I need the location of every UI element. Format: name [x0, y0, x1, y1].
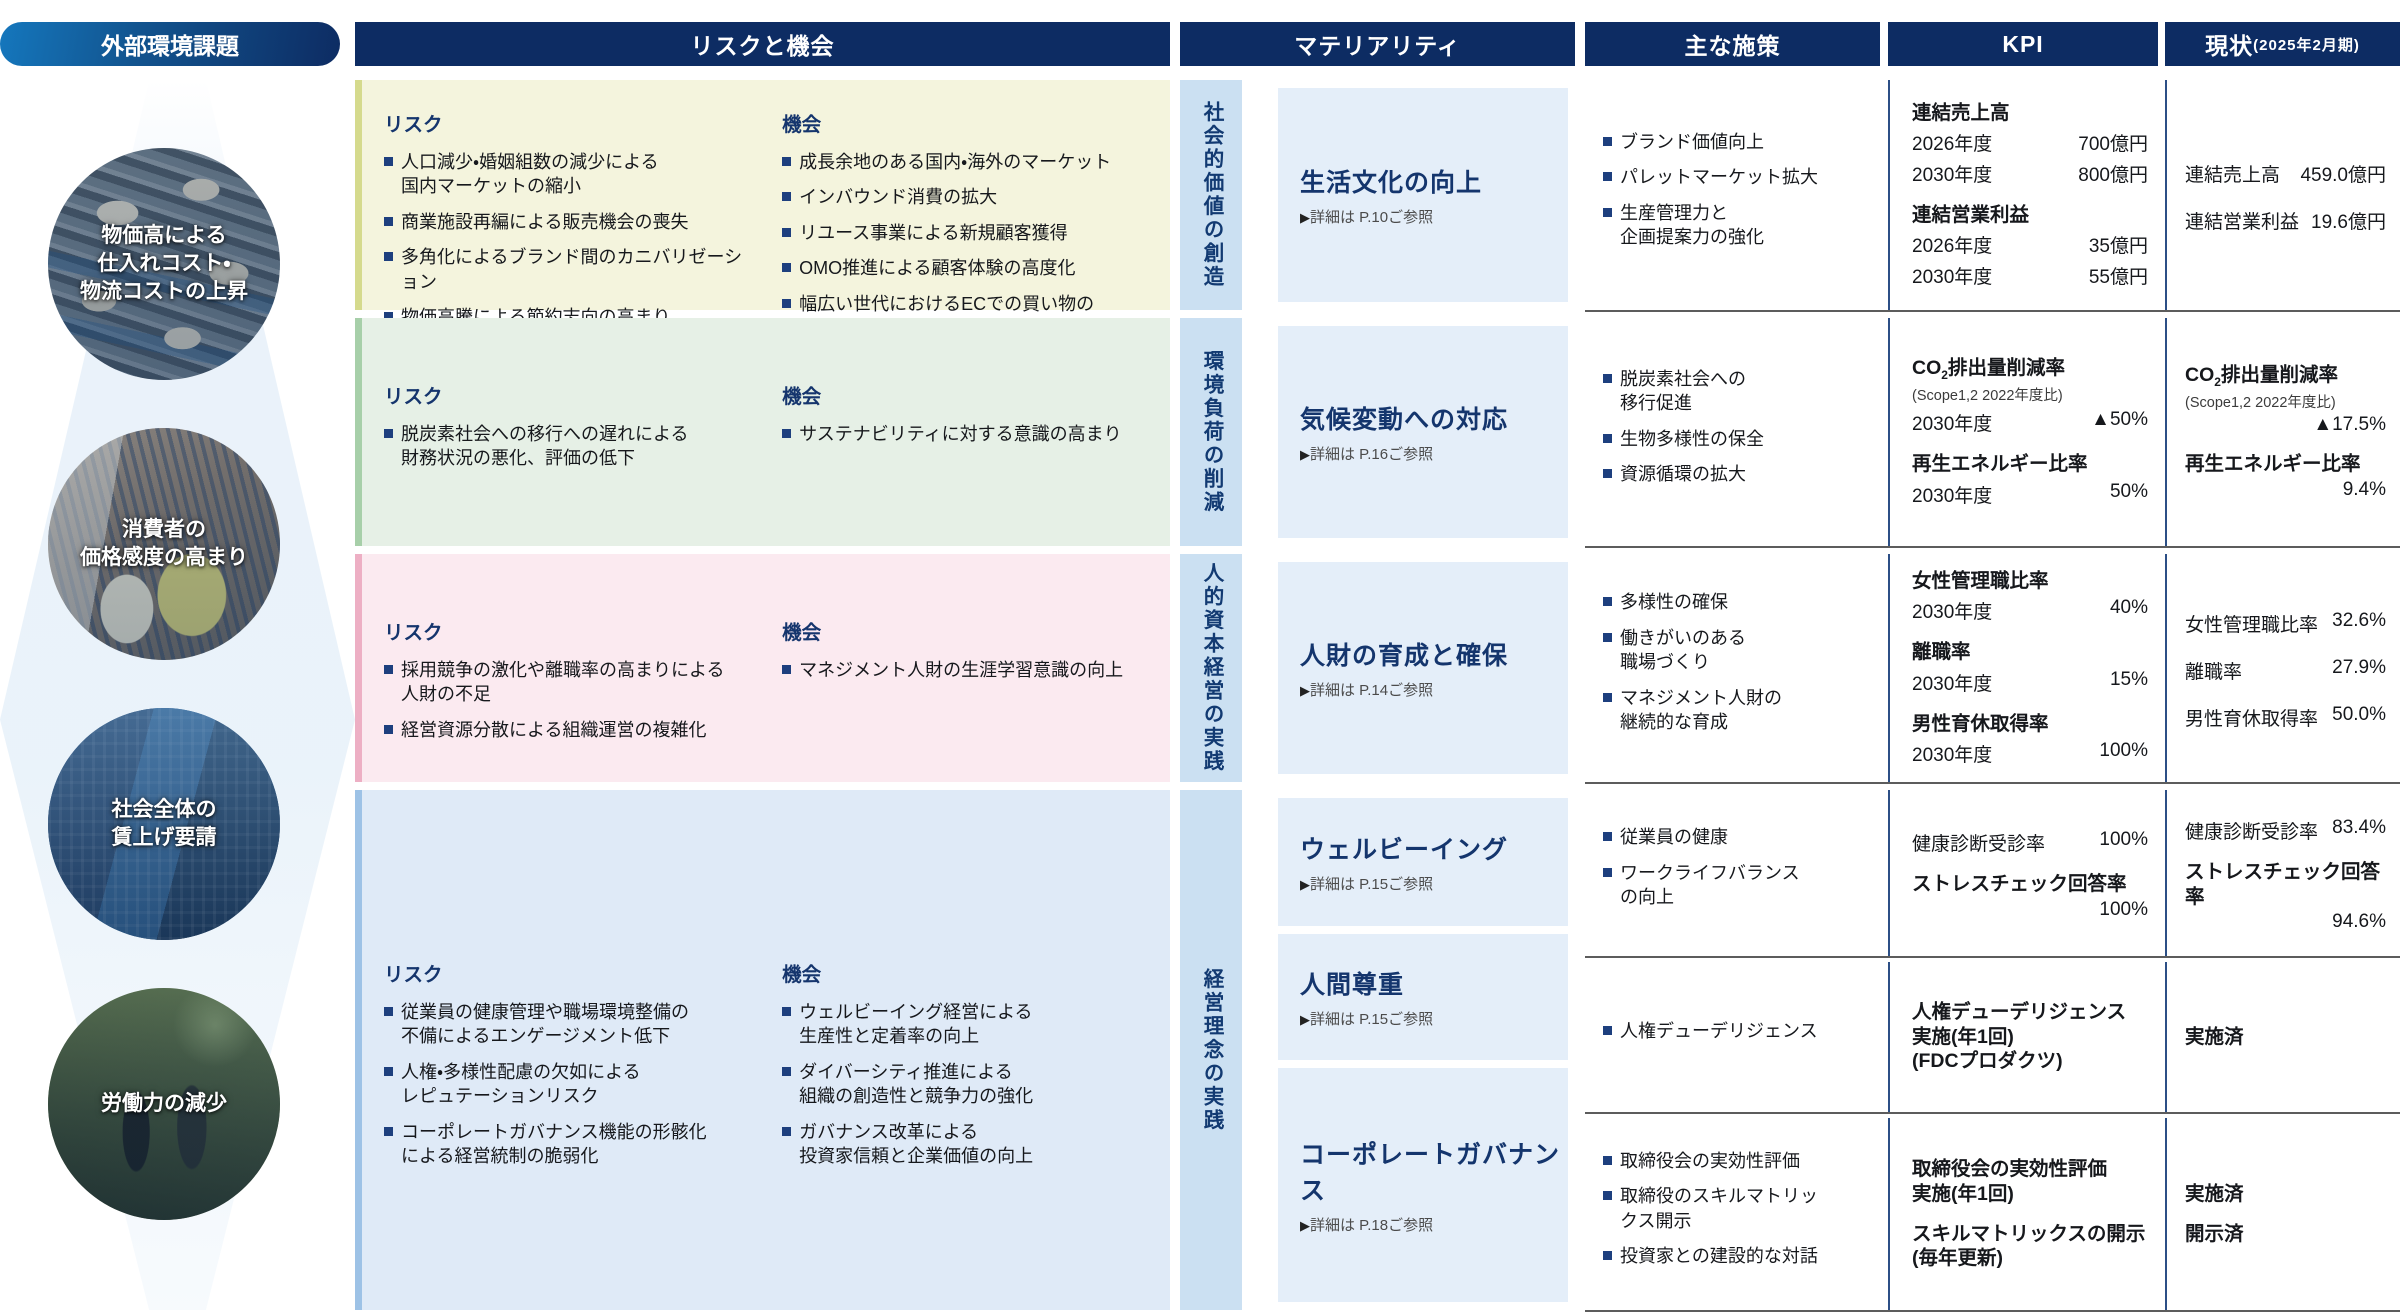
list-item: 多角化によるブランド間のカニバリゼーション: [384, 245, 760, 294]
kpi-value: 94.6%: [2185, 911, 2386, 933]
kpi-title: 連結売上高: [1912, 101, 2148, 125]
kpi-value: 9.4%: [2185, 479, 2386, 501]
play-triangle-icon: ▶: [1300, 1218, 1310, 1233]
kpi-group: 再生エネルギー比率9.4%: [2185, 452, 2386, 500]
external-issue-label-1: 消費者の価格感度の高まり: [76, 516, 252, 571]
measures-cell-5: 取締役会の実効性評価取締役のスキルマトリックス開示投資家との建設的な対話: [1585, 1118, 1880, 1310]
pillar-social-value: 社会的価値の創造: [1180, 80, 1242, 310]
kpi-row: 2030年度100%: [1912, 740, 2148, 767]
materiality-ref-label-0: 詳細は P.10ご参照: [1310, 209, 1433, 226]
risk-title-3: リスク: [384, 958, 760, 987]
list-item: 働きがいのある職場づくり: [1603, 626, 1864, 675]
risk-title-1: リスク: [384, 380, 760, 409]
list-item: 資源循環の拡大: [1603, 462, 1864, 486]
external-issue-label-2: 社会全体の賃上げ要請: [108, 796, 221, 851]
list-item: ガバナンス改革による投資家信頼と企業価値の向上: [782, 1120, 1156, 1169]
measures-cell-0: ブランド価値向上パレットマーケット拡大生産管理力と企画提案力の強化: [1585, 80, 1880, 310]
header-risk-opportunity-label: リスクと機会: [691, 27, 835, 61]
materiality-card-3[interactable]: ウェルビーイング ▶詳細は P.15ご参照: [1278, 798, 1568, 926]
kpi-row-label: 2026年度: [1912, 231, 1992, 258]
list-item: 人権デューデリジェンス: [1603, 1019, 1864, 1043]
list-item: 脱炭素社会への移行への遅れによる財務状況の悪化、評価の低下: [384, 422, 760, 471]
header-measures-label: 主な施策: [1685, 27, 1781, 61]
opportunity-block-1: 機会 サステナビリティに対する意識の高まり: [774, 380, 1170, 546]
opportunity-block-3: 機会 ウェルビーイング経営による生産性と定着率の向上ダイバーシティ推進による組織…: [774, 958, 1170, 1310]
materiality-ref-0[interactable]: ▶詳細は P.10ご参照: [1300, 206, 1568, 227]
kpi-row-value: ▲50%: [2091, 409, 2148, 436]
opportunity-list-2: マネジメント人財の生涯学習意識の向上: [782, 658, 1156, 682]
materiality-ref-label-1: 詳細は P.16ご参照: [1310, 446, 1433, 463]
kpi-group: CO2排出量削減率(Scope1,2 2022年度比)▲17.5%: [2185, 363, 2386, 436]
kpi-group: 健康診断受診率83.4%: [2185, 813, 2386, 844]
kpi-title: 連結営業利益: [2185, 207, 2299, 234]
list-item: ブランド価値向上: [1603, 130, 1864, 154]
list-item: サステナビリティに対する意識の高まり: [782, 422, 1156, 446]
opportunity-title-1: 機会: [782, 380, 1156, 409]
pillar-environment: 環境負荷の削減: [1180, 318, 1242, 546]
materiality-ref-label-4: 詳細は P.15ご参照: [1310, 1011, 1433, 1028]
list-item: ダイバーシティ推進による組織の創造性と競争力の強化: [782, 1060, 1156, 1109]
list-item: コーポレートガバナンス機能の形骸化による経営統制の脆弱化: [384, 1120, 760, 1169]
kpi-row-label: 2030年度: [1912, 160, 1992, 187]
kpi-value: 83.4%: [2332, 817, 2386, 844]
kpi-group: 取締役会の実効性評価実施(年1回): [1912, 1157, 2148, 1206]
materiality-title-0: 生活文化の向上: [1300, 163, 1568, 199]
header-current: 現状(2025年2月期): [2165, 22, 2400, 66]
kpi-value: 100%: [1912, 899, 2148, 921]
kpi-title: 実施済: [2185, 1025, 2386, 1049]
kpi-value: 50.0%: [2332, 704, 2386, 731]
kpi-title: 男性育休取得率: [1912, 712, 2148, 736]
kpi-group: 女性管理職比率2030年度40%: [1912, 569, 2148, 624]
list-item: インバウンド消費の拡大: [782, 185, 1156, 209]
kpi-group: 連結営業利益19.6億円: [2185, 203, 2386, 234]
external-issue-circle-wage-increase: 社会全体の賃上げ要請: [48, 708, 280, 940]
materiality-card-1[interactable]: 気候変動への対応 ▶詳細は P.16ご参照: [1278, 326, 1568, 538]
kpi-title: スキルマトリックスの開示(毎年更新): [1912, 1222, 2148, 1271]
kpi-title: ストレスチェック回答率: [2185, 860, 2386, 909]
kpi-title: 女性管理職比率: [1912, 569, 2148, 593]
opportunity-list-0: 成長余地のある国内・海外のマーケットインバウンド消費の拡大リユース事業による新規…: [782, 150, 1156, 341]
pillar-label-1: 環境負荷の削減: [1196, 350, 1226, 515]
kpi-row: 2030年度50%: [1912, 481, 2148, 508]
kpi-row-value: 40%: [2110, 597, 2148, 624]
risk-title-0: リスク: [384, 108, 760, 137]
kpi-group: 女性管理職比率32.6%: [2185, 606, 2386, 637]
kpi-title: CO2排出量削減率: [1912, 356, 2148, 383]
kpi-group: スキルマトリックスの開示(毎年更新): [1912, 1222, 2148, 1271]
header-current-sublabel: (2025年2月期): [2253, 34, 2360, 55]
risk-block-2: リスク 採用競争の激化や離職率の高まりによる人財の不足経営資源分散による組織運営…: [362, 616, 774, 782]
kpi-row-value: 35億円: [2089, 231, 2148, 258]
materiality-ref-1[interactable]: ▶詳細は P.16ご参照: [1300, 443, 1568, 464]
opportunity-list-3: ウェルビーイング経営による生産性と定着率の向上ダイバーシティ推進による組織の創造…: [782, 1000, 1156, 1169]
kpi-group: 連結売上高2026年度700億円2030年度800億円: [1912, 101, 2148, 187]
kpi-value: 459.0億円: [2300, 160, 2386, 187]
kpi-title: 取締役会の実効性評価実施(年1回): [1912, 1157, 2148, 1206]
play-triangle-icon: ▶: [1300, 210, 1310, 225]
kpi-row: 2026年度35億円: [1912, 231, 2148, 258]
kpi-group: CO2排出量削減率(Scope1,2 2022年度比)2030年度▲50%: [1912, 356, 2148, 436]
materiality-title-3: ウェルビーイング: [1300, 830, 1568, 866]
materiality-ref-label-2: 詳細は P.14ご参照: [1310, 682, 1433, 699]
kpi-group: 開示済: [2185, 1222, 2386, 1246]
kpi-row-label: 2030年度: [1912, 409, 1992, 436]
kpi-group: ストレスチェック回答率94.6%: [2185, 860, 2386, 933]
kpi-title: 男性育休取得率: [2185, 704, 2318, 731]
list-item: 取締役会の実効性評価: [1603, 1149, 1864, 1173]
measures-cell-4: 人権デューデリジェンス: [1585, 962, 1880, 1112]
external-issue-circle-labor-shortage: 労働力の減少: [48, 988, 280, 1220]
kpi-row-label: 2030年度: [1912, 597, 1992, 624]
current-cell-4: 実施済: [2165, 962, 2400, 1112]
list-item: 従業員の健康管理や職場環境整備の不備によるエンゲージメント低下: [384, 1000, 760, 1049]
external-issue-circle-price-sensitivity: 消費者の価格感度の高まり: [48, 428, 280, 660]
kpi-row-label: 2030年度: [1912, 669, 1992, 696]
risk-list-2: 採用競争の激化や離職率の高まりによる人財の不足経営資源分散による組織運営の複雑化: [384, 658, 760, 742]
list-item: 投資家との建設的な対話: [1603, 1244, 1864, 1268]
kpi-group: 男性育休取得率50.0%: [2185, 700, 2386, 731]
list-item: 生産管理力と企画提案力の強化: [1603, 201, 1864, 250]
list-item: 採用競争の激化や離職率の高まりによる人財の不足: [384, 658, 760, 707]
measures-list-1: 脱炭素社会への移行促進生物多様性の保全資源循環の拡大: [1603, 367, 1864, 498]
kpi-title: 人権デューデリジェンス実施(年1回)(FDCプロダクツ): [1912, 1000, 2148, 1073]
risk-block-0: リスク 人口減少・婚姻組数の減少による国内マーケットの縮小商業施設再編による販売…: [362, 108, 774, 310]
opportunity-title-3: 機会: [782, 958, 1156, 987]
measures-list-5: 取締役会の実効性評価取締役のスキルマトリックス開示投資家との建設的な対話: [1603, 1149, 1864, 1280]
pillar-management-philosophy: 経営理念の実践: [1180, 790, 1242, 1310]
kpi-title: CO2排出量削減率: [2185, 363, 2386, 390]
materiality-ref-label-5: 詳細は P.18ご参照: [1310, 1217, 1433, 1234]
kpi-title: 女性管理職比率: [2185, 610, 2318, 637]
risk-title-2: リスク: [384, 616, 760, 645]
kpi-row: 2030年度▲50%: [1912, 409, 2148, 436]
kpi-row-label: 2030年度: [1912, 481, 1992, 508]
header-kpi-label: KPI: [2002, 31, 2043, 58]
kpi-title: ストレスチェック回答率: [1912, 872, 2148, 896]
kpi-group: 連結売上高459.0億円: [2185, 156, 2386, 187]
list-item: 経営資源分散による組織運営の複雑化: [384, 718, 760, 742]
materiality-card-4[interactable]: 人間尊重 ▶詳細は P.15ご参照: [1278, 934, 1568, 1060]
kpi-row-label: 2030年度: [1912, 740, 1992, 767]
risk-list-3: 従業員の健康管理や職場環境整備の不備によるエンゲージメント低下人権・多様性配慮の…: [384, 1000, 760, 1169]
pillar-label-2: 人的資本経営の実践: [1196, 562, 1226, 774]
current-cell-3: 健康診断受診率83.4%ストレスチェック回答率94.6%: [2165, 790, 2400, 956]
risk-opportunity-panel-3: リスク 従業員の健康管理や職場環境整備の不備によるエンゲージメント低下人権・多様…: [355, 790, 1170, 1310]
row-divider-4: [1585, 1112, 2400, 1114]
risk-opportunity-panel-0: リスク 人口減少・婚姻組数の減少による国内マーケットの縮小商業施設再編による販売…: [355, 80, 1170, 310]
list-item: マネジメント人財の継続的な育成: [1603, 686, 1864, 735]
header-materiality: マテリアリティ: [1180, 22, 1575, 66]
list-item: リユース事業による新規顧客獲得: [782, 221, 1156, 245]
kpi-value: 32.6%: [2332, 610, 2386, 637]
play-triangle-icon: ▶: [1300, 877, 1310, 892]
kpi-cell-1: CO2排出量削減率(Scope1,2 2022年度比)2030年度▲50%再生エ…: [1888, 318, 2158, 546]
materiality-card-0[interactable]: 生活文化の向上 ▶詳細は P.10ご参照: [1278, 88, 1568, 302]
kpi-title: 開示済: [2185, 1222, 2386, 1246]
measures-list-0: ブランド価値向上パレットマーケット拡大生産管理力と企画提案力の強化: [1603, 130, 1864, 261]
kpi-row: 2030年度15%: [1912, 669, 2148, 696]
current-cell-1: CO2排出量削減率(Scope1,2 2022年度比)▲17.5%再生エネルギー…: [2165, 318, 2400, 546]
current-cell-0: 連結売上高459.0億円連結営業利益19.6億円: [2165, 80, 2400, 310]
kpi-row-value: 100%: [2099, 740, 2148, 767]
kpi-group: 実施済: [2185, 1025, 2386, 1049]
kpi-note: (Scope1,2 2022年度比): [2185, 391, 2386, 412]
header-risk-opportunity: リスクと機会: [355, 22, 1170, 66]
materiality-matrix-page: 外部環境課題 リスクと機会 マテリアリティ 主な施策 KPI 現状(2025年2…: [0, 0, 2400, 1314]
measures-list-2: 多様性の確保働きがいのある職場づくりマネジメント人財の継続的な育成: [1603, 590, 1864, 745]
list-item: 従業員の健康: [1603, 825, 1864, 849]
opportunity-list-1: サステナビリティに対する意識の高まり: [782, 422, 1156, 446]
play-triangle-icon: ▶: [1300, 683, 1310, 698]
kpi-row-value: 700億円: [2078, 129, 2148, 156]
kpi-title: 離職率: [1912, 640, 2148, 664]
current-cell-5: 実施済開示済: [2165, 1118, 2400, 1310]
kpi-title: 離職率: [2185, 657, 2242, 684]
kpi-title: 再生エネルギー比率: [2185, 452, 2386, 476]
risk-list-0: 人口減少・婚姻組数の減少による国内マーケットの縮小商業施設再編による販売機会の喪…: [384, 150, 760, 330]
play-triangle-icon: ▶: [1300, 447, 1310, 462]
header-external-issues: 外部環境課題: [0, 22, 340, 66]
header-current-label: 現状: [2205, 27, 2253, 61]
kpi-group: 離職率2030年度15%: [1912, 640, 2148, 695]
kpi-title: 再生エネルギー比率: [1912, 452, 2148, 476]
risk-opportunity-panel-1: リスク 脱炭素社会への移行への遅れによる財務状況の悪化、評価の低下 機会 サステ…: [355, 318, 1170, 546]
measures-list-4: 人権デューデリジェンス: [1603, 1019, 1864, 1054]
row-divider-0: [1585, 310, 2400, 312]
kpi-cell-0: 連結売上高2026年度700億円2030年度800億円連結営業利益2026年度3…: [1888, 80, 2158, 310]
list-item: 成長余地のある国内・海外のマーケット: [782, 150, 1156, 174]
row-divider-1: [1585, 546, 2400, 548]
list-item: 生物多様性の保全: [1603, 427, 1864, 451]
materiality-ref-5[interactable]: ▶詳細は P.18ご参照: [1300, 1214, 1568, 1235]
risk-opportunity-panel-2: リスク 採用競争の激化や離職率の高まりによる人財の不足経営資源分散による組織運営…: [355, 554, 1170, 782]
pillar-label-3: 経営理念の実践: [1196, 968, 1226, 1133]
kpi-title: 連結売上高: [2185, 160, 2280, 187]
measures-cell-2: 多様性の確保働きがいのある職場づくりマネジメント人財の継続的な育成: [1585, 554, 1880, 782]
kpi-group: 健康診断受診率100%: [1912, 825, 2148, 856]
materiality-title-4: 人間尊重: [1300, 965, 1568, 1001]
opportunity-title-2: 機会: [782, 616, 1156, 645]
kpi-cell-4: 人権デューデリジェンス実施(年1回)(FDCプロダクツ): [1888, 962, 2158, 1112]
header-kpi: KPI: [1888, 22, 2158, 66]
external-issue-label-3: 労働力の減少: [97, 1090, 231, 1118]
materiality-ref-3[interactable]: ▶詳細は P.15ご参照: [1300, 873, 1568, 894]
header-materiality-label: マテリアリティ: [1294, 27, 1461, 61]
list-item: 商業施設再編による販売機会の喪失: [384, 210, 760, 234]
risk-list-1: 脱炭素社会への移行への遅れによる財務状況の悪化、評価の低下: [384, 422, 760, 471]
materiality-card-2[interactable]: 人財の育成と確保 ▶詳細は P.14ご参照: [1278, 562, 1568, 774]
kpi-row-value: 55億円: [2089, 262, 2148, 289]
kpi-row-value: 50%: [2110, 481, 2148, 508]
kpi-group: 実施済: [2185, 1182, 2386, 1206]
materiality-title-1: 気候変動への対応: [1300, 400, 1568, 436]
list-item: 取締役のスキルマトリックス開示: [1603, 1184, 1864, 1233]
external-issue-circle-logistics-cost: 物価高による仕入れコスト・物流コストの上昇: [48, 148, 280, 380]
list-item: OMO推進による顧客体験の高度化: [782, 256, 1156, 280]
pillar-human-capital: 人的資本経営の実践: [1180, 554, 1242, 782]
list-item: 人口減少・婚姻組数の減少による国内マーケットの縮小: [384, 150, 760, 199]
kpi-row: 2026年度700億円: [1912, 129, 2148, 156]
external-issue-label-0: 物価高による仕入れコスト・物流コストの上昇: [76, 222, 252, 305]
kpi-row: 2030年度55億円: [1912, 262, 2148, 289]
opportunity-title-0: 機会: [782, 108, 1156, 137]
kpi-title: 実施済: [2185, 1182, 2386, 1206]
list-item: マネジメント人財の生涯学習意識の向上: [782, 658, 1156, 682]
materiality-ref-2[interactable]: ▶詳細は P.14ご参照: [1300, 679, 1568, 700]
opportunity-block-0: 機会 成長余地のある国内・海外のマーケットインバウンド消費の拡大リユース事業によ…: [774, 108, 1170, 310]
kpi-title: 健康診断受診率: [2185, 817, 2318, 844]
kpi-group: 男性育休取得率2030年度100%: [1912, 712, 2148, 767]
measures-list-3: 従業員の健康ワークライフバランスの向上: [1603, 825, 1864, 920]
kpi-row-value: 15%: [2110, 669, 2148, 696]
current-cell-2: 女性管理職比率32.6%離職率27.9%男性育休取得率50.0%: [2165, 554, 2400, 782]
materiality-ref-4[interactable]: ▶詳細は P.15ご参照: [1300, 1008, 1568, 1029]
materiality-title-2: 人財の育成と確保: [1300, 636, 1568, 672]
kpi-group: ストレスチェック回答率100%: [1912, 872, 2148, 920]
kpi-row-label: 2030年度: [1912, 262, 1992, 289]
row-divider-3: [1585, 956, 2400, 958]
list-item: 人権・多様性配慮の欠如によるレピュテーションリスク: [384, 1060, 760, 1109]
row-divider-2: [1585, 782, 2400, 784]
kpi-value: 27.9%: [2332, 657, 2386, 684]
kpi-group: 離職率27.9%: [2185, 653, 2386, 684]
kpi-value: 100%: [2099, 829, 2148, 856]
kpi-value: 19.6億円: [2311, 207, 2386, 234]
kpi-cell-5: 取締役会の実効性評価実施(年1回)スキルマトリックスの開示(毎年更新): [1888, 1118, 2158, 1310]
list-item: 脱炭素社会への移行促進: [1603, 367, 1864, 416]
kpi-row: 2030年度800億円: [1912, 160, 2148, 187]
measures-cell-3: 従業員の健康ワークライフバランスの向上: [1585, 790, 1880, 956]
kpi-row: 2030年度40%: [1912, 597, 2148, 624]
materiality-card-5[interactable]: コーポレートガバナンス ▶詳細は P.18ご参照: [1278, 1068, 1568, 1302]
kpi-row-label: 2026年度: [1912, 129, 1992, 156]
pillar-label-0: 社会的価値の創造: [1196, 101, 1226, 289]
materiality-title-5: コーポレートガバナンス: [1300, 1135, 1568, 1207]
list-item: ウェルビーイング経営による生産性と定着率の向上: [782, 1000, 1156, 1049]
risk-block-3: リスク 従業員の健康管理や職場環境整備の不備によるエンゲージメント低下人権・多様…: [362, 958, 774, 1310]
header-measures: 主な施策: [1585, 22, 1880, 66]
kpi-note: (Scope1,2 2022年度比): [1912, 384, 2148, 405]
play-triangle-icon: ▶: [1300, 1012, 1310, 1027]
kpi-value: ▲17.5%: [2185, 414, 2386, 436]
list-item: パレットマーケット拡大: [1603, 165, 1864, 189]
kpi-group: 連結営業利益2026年度35億円2030年度55億円: [1912, 203, 2148, 289]
header-external-issues-label: 外部環境課題: [101, 27, 239, 61]
kpi-cell-3: 健康診断受診率100%ストレスチェック回答率100%: [1888, 790, 2158, 956]
kpi-title: 連結営業利益: [1912, 203, 2148, 227]
kpi-title: 健康診断受診率: [1912, 829, 2045, 856]
materiality-ref-label-3: 詳細は P.15ご参照: [1310, 876, 1433, 893]
kpi-cell-2: 女性管理職比率2030年度40%離職率2030年度15%男性育休取得率2030年…: [1888, 554, 2158, 782]
kpi-group: 人権デューデリジェンス実施(年1回)(FDCプロダクツ): [1912, 1000, 2148, 1073]
kpi-row-value: 800億円: [2078, 160, 2148, 187]
kpi-group: 再生エネルギー比率2030年度50%: [1912, 452, 2148, 507]
list-item: 多様性の確保: [1603, 590, 1864, 614]
row-divider-bottom: [1585, 1310, 2400, 1312]
risk-block-1: リスク 脱炭素社会への移行への遅れによる財務状況の悪化、評価の低下: [362, 380, 774, 546]
opportunity-block-2: 機会 マネジメント人財の生涯学習意識の向上: [774, 616, 1170, 782]
list-item: ワークライフバランスの向上: [1603, 861, 1864, 910]
measures-cell-1: 脱炭素社会への移行促進生物多様性の保全資源循環の拡大: [1585, 318, 1880, 546]
